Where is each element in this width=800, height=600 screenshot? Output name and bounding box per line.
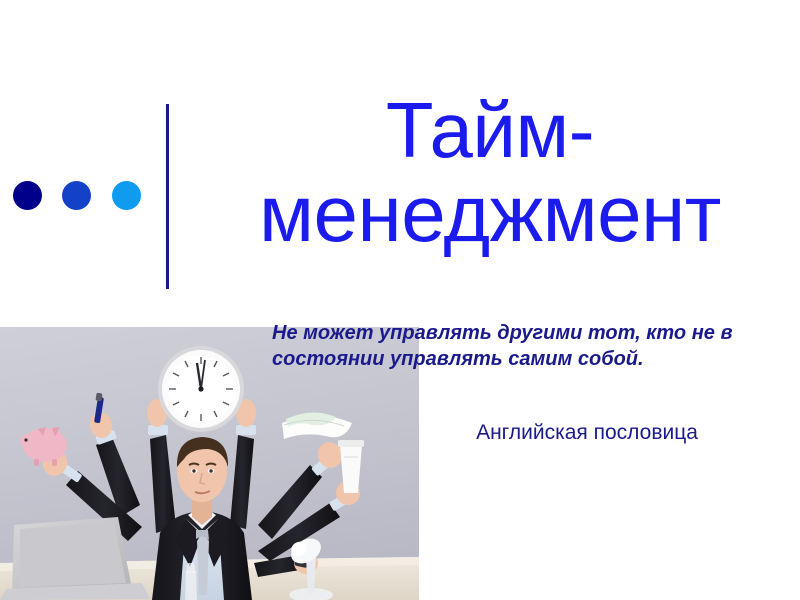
- vertical-divider-rule: [166, 104, 169, 289]
- dot-blue-icon: [62, 181, 91, 210]
- page-title: Тайм- менеджмент: [190, 88, 790, 256]
- dot-light-blue-icon: [112, 181, 141, 210]
- decorative-dots-group: [13, 181, 143, 211]
- title-line-2: менеджмент: [190, 172, 790, 256]
- quote-attribution: Английская пословица: [392, 420, 782, 446]
- dot-navy-icon: [13, 181, 42, 210]
- title-line-1: Тайм-: [190, 88, 790, 172]
- slide-canvas: Тайм- менеджмент: [0, 0, 800, 600]
- quote-text: Не может управлять другими тот, кто не в…: [272, 320, 784, 372]
